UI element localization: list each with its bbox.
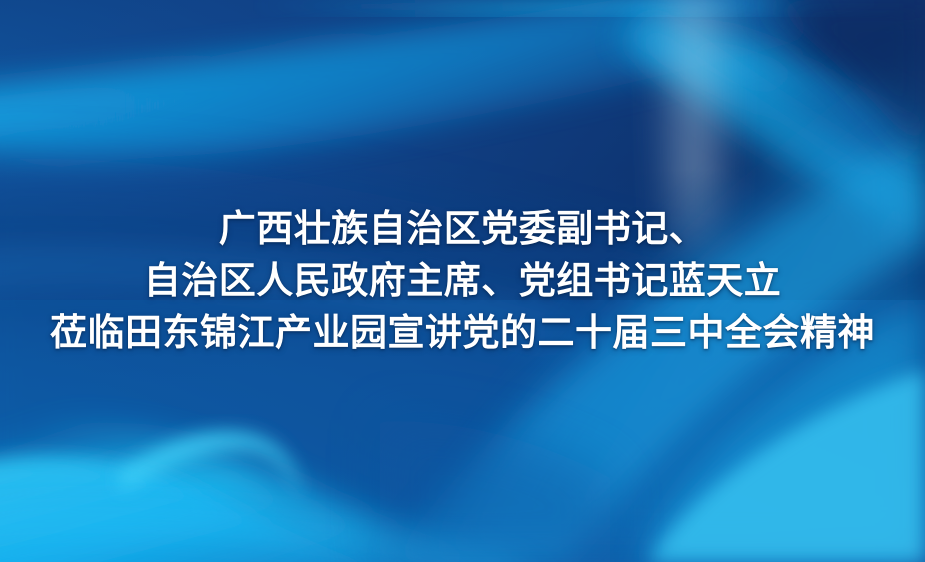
background-gradient-artwork (0, 0, 925, 562)
banner-container: 广西壮族自治区党委副书记、 自治区人民政府主席、党组书记蓝天立 莅临田东锦江产业… (0, 0, 925, 562)
